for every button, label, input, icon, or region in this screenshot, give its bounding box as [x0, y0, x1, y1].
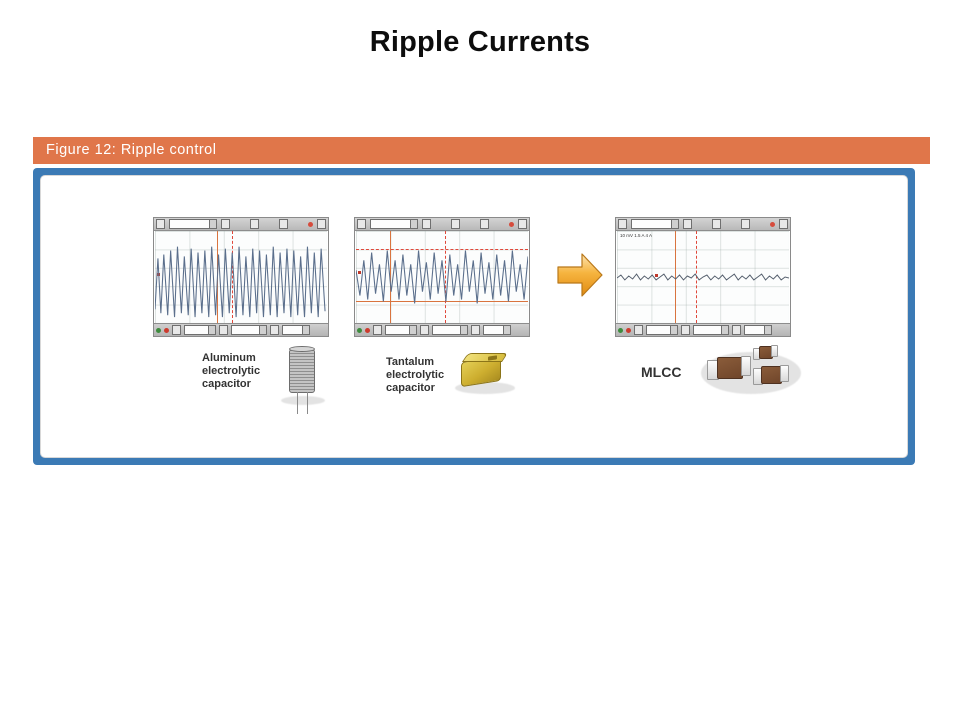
menu-button-icon[interactable] — [357, 219, 366, 229]
stop-indicator-icon — [365, 328, 370, 333]
autoset-button-icon[interactable] — [373, 325, 382, 335]
menu-button-icon[interactable] — [156, 219, 165, 229]
measure-button-icon[interactable] — [518, 219, 527, 229]
voltage-field[interactable] — [231, 325, 267, 335]
channel-marker — [655, 274, 658, 277]
cursor-button-icon[interactable] — [480, 219, 489, 229]
menu-button-icon[interactable] — [618, 219, 627, 229]
run-indicator-icon — [618, 328, 623, 333]
cursor-button-icon[interactable] — [741, 219, 750, 229]
timebase-stepper-icon[interactable] — [219, 325, 228, 335]
timebase-field[interactable] — [385, 325, 417, 335]
voltage-field[interactable] — [432, 325, 468, 335]
channel-select-combo[interactable] — [631, 219, 679, 229]
flow-arrow-icon — [557, 251, 603, 299]
trigger-level-field[interactable] — [282, 325, 310, 335]
scope-statusbar[interactable] — [616, 323, 790, 336]
autoset-button-icon[interactable] — [172, 325, 181, 335]
tantalum-top-face — [462, 353, 508, 362]
figure-inner-panel: 10 mV 1.5 A 4 A Aluminum electrolyt — [40, 175, 908, 458]
autoset-button-icon[interactable] — [634, 325, 643, 335]
timebase-field[interactable] — [646, 325, 678, 335]
mlcc-terminal — [741, 356, 751, 376]
trigger-level-field[interactable] — [744, 325, 772, 335]
mlcc-terminal — [780, 365, 789, 382]
aluminum-capacitor-label: Aluminum electrolytic capacitor — [202, 352, 292, 391]
measure-indicator-icon — [308, 222, 313, 227]
mlcc-chip-body — [761, 366, 782, 384]
capacitor-shadow — [281, 396, 325, 405]
trigger-button-icon[interactable] — [250, 219, 259, 229]
page-title: Ripple Currents — [0, 26, 960, 59]
trigger-level-field[interactable] — [483, 325, 511, 335]
measure-button-icon[interactable] — [317, 219, 326, 229]
waveform-trace-mlcc — [617, 231, 789, 323]
scope-toolbar[interactable] — [616, 218, 790, 231]
capacitor-can-top — [289, 346, 315, 352]
mlcc-terminal — [771, 345, 778, 357]
scope-plot-area: 10 mV 1.5 A 4 A — [617, 231, 789, 323]
timebase-stepper-icon[interactable] — [681, 325, 690, 335]
waveform-trace-aluminum — [155, 231, 327, 323]
scope-toolbar[interactable] — [355, 218, 529, 231]
scope-plot-area — [356, 231, 528, 323]
channel-button-icon[interactable] — [422, 219, 431, 229]
voltage-stepper-icon[interactable] — [471, 325, 480, 335]
figure-frame: 10 mV 1.5 A 4 A Aluminum electrolyt — [33, 168, 915, 465]
voltage-stepper-icon[interactable] — [732, 325, 741, 335]
channel-select-combo[interactable] — [370, 219, 418, 229]
run-indicator-icon — [357, 328, 362, 333]
channel-select-combo[interactable] — [169, 219, 217, 229]
scope-statusbar[interactable] — [154, 323, 328, 336]
timebase-stepper-icon[interactable] — [420, 325, 429, 335]
measure-button-icon[interactable] — [779, 219, 788, 229]
mlcc-chip-body — [717, 357, 743, 379]
timebase-field[interactable] — [184, 325, 216, 335]
channel-button-icon[interactable] — [221, 219, 230, 229]
trigger-button-icon[interactable] — [451, 219, 460, 229]
oscilloscope-window-tantalum[interactable] — [354, 217, 530, 337]
measure-indicator-icon — [509, 222, 514, 227]
cursor-button-icon[interactable] — [279, 219, 288, 229]
run-indicator-icon — [156, 328, 161, 333]
scope-statusbar[interactable] — [355, 323, 529, 336]
figure-caption-bar: Figure 12: Ripple control — [33, 137, 930, 164]
capacitor-lead — [297, 392, 298, 414]
voltage-stepper-icon[interactable] — [270, 325, 279, 335]
stop-indicator-icon — [626, 328, 631, 333]
capacitor-can-body — [289, 349, 315, 393]
capacitor-lead — [307, 392, 308, 414]
measure-indicator-icon — [770, 222, 775, 227]
mlcc-label: MLCC — [641, 366, 681, 379]
channel-button-icon[interactable] — [683, 219, 692, 229]
scope-toolbar[interactable] — [154, 218, 328, 231]
voltage-field[interactable] — [693, 325, 729, 335]
waveform-trace-tantalum — [356, 231, 528, 323]
oscilloscope-window-mlcc[interactable]: 10 mV 1.5 A 4 A — [615, 217, 791, 337]
stop-indicator-icon — [164, 328, 169, 333]
scope-plot-area — [155, 231, 327, 323]
trigger-button-icon[interactable] — [712, 219, 721, 229]
oscilloscope-window-aluminum[interactable] — [153, 217, 329, 337]
